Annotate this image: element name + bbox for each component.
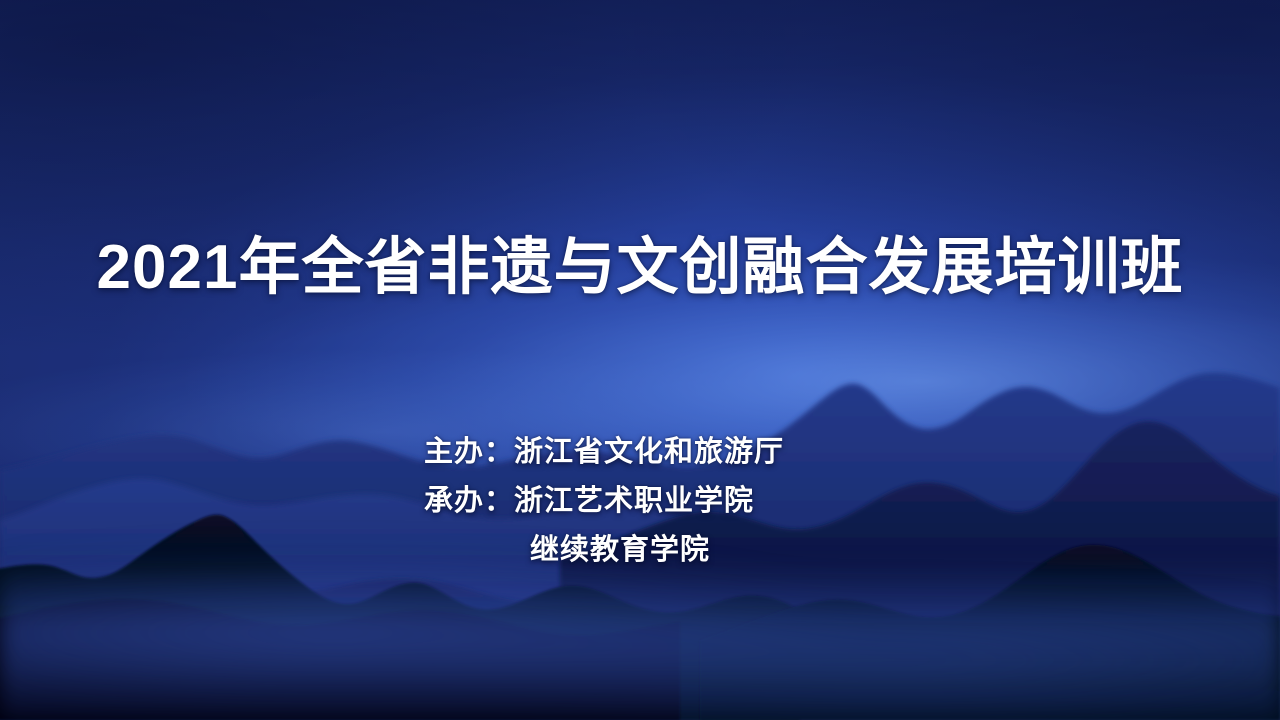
slide-title: 2021年全省非遗与文创融合发展培训班 (0, 222, 1280, 314)
title-slide: 2021年全省非遗与文创融合发展培训班 主办：浙江省文化和旅游厅 承办：浙江艺术… (0, 0, 1280, 720)
organizer-line-host: 主办：浙江省文化和旅游厅 (424, 428, 784, 477)
mountain-range-illustration (0, 0, 1280, 720)
organizer-line-coorganizer: 承办：浙江艺术职业学院 (424, 477, 784, 526)
organizer-credits: 主办：浙江省文化和旅游厅 承办：浙江艺术职业学院 继续教育学院 (424, 428, 784, 575)
organizer-line-department: 继续教育学院 (424, 526, 784, 575)
